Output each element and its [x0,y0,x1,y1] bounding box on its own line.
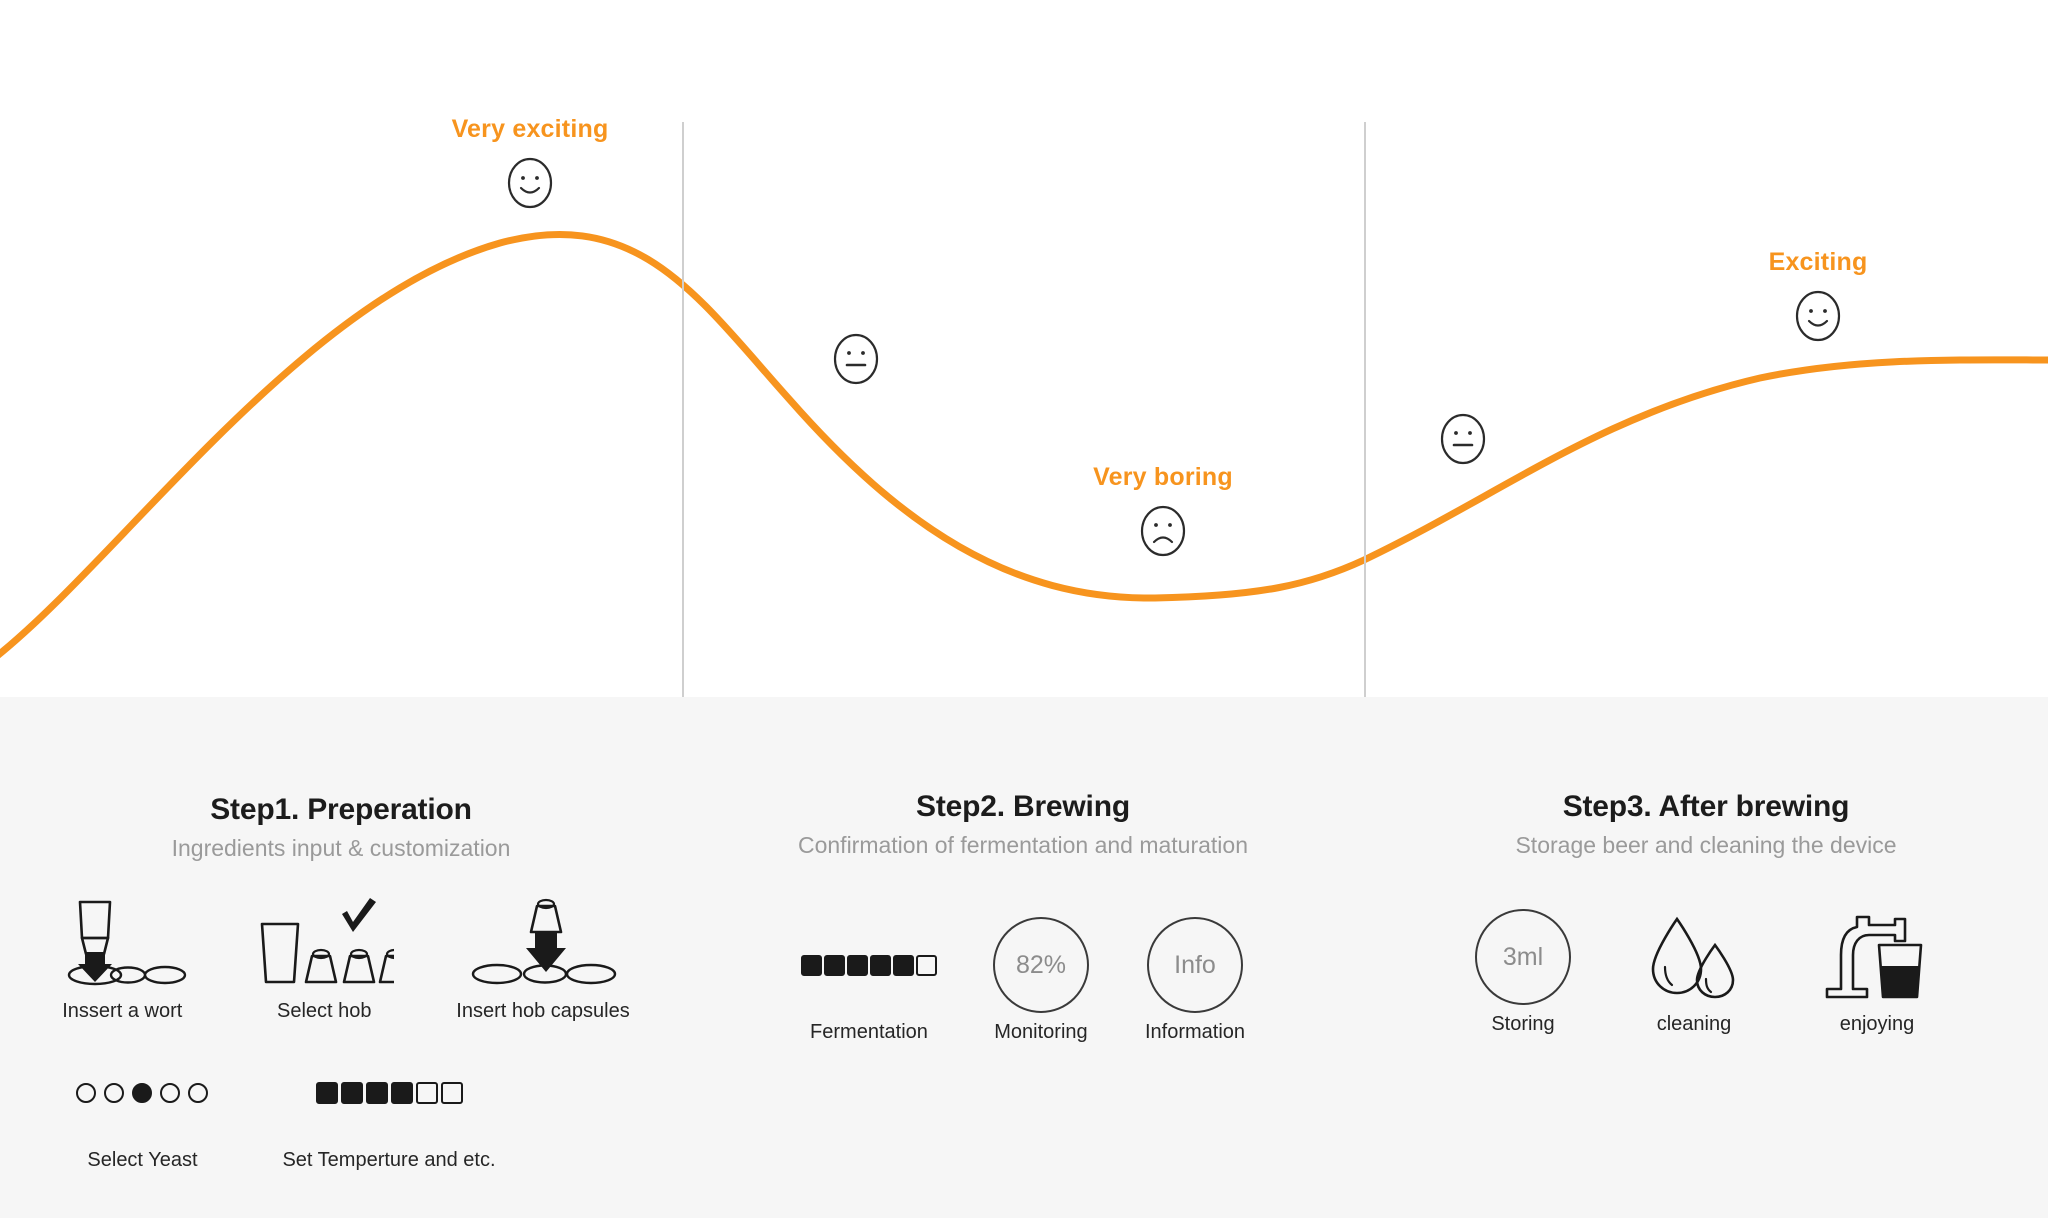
square-empty [441,1082,463,1104]
volume-value: 3ml [1503,943,1543,972]
emotion-curve-area [0,0,2048,697]
square-filled [391,1082,413,1104]
neutral-face-icon [1438,412,1488,471]
sad-face-icon [1138,504,1188,563]
icon-caption: enjoying [1817,1013,1937,1036]
step3-item-enjoying[interactable]: enjoying [1817,911,1937,1036]
radio-dots-icon [76,1047,208,1139]
step-title: Step2. Brewing [682,790,1364,824]
step-column-brewing: Step2. Brewing Confirmation of fermentat… [682,697,1364,1218]
step-column-after-brewing: Step3. After brewing Storage beer and cl… [1364,697,2048,1218]
step1-icon-row-2: Select Yeast Set Temperture and etc. [0,1047,682,1172]
emotion-curve-svg [0,0,2048,697]
tap-and-glass-icon [1817,911,1937,1003]
emotion-label: Exciting [1668,248,1968,277]
level-squares-icon [282,1047,495,1139]
volume-ring-icon: 3ml [1475,909,1571,1005]
neutral-face-icon [831,332,881,391]
journey-map-page: Very exciting Very boring [0,0,2048,1218]
square-filled [870,955,891,976]
insert-capsule-arrow-icon [456,898,629,990]
step1-item-insert-capsules[interactable]: Insert hob capsules [456,898,629,1023]
icon-caption: Set Temperture and etc. [282,1149,495,1172]
info-value: Info [1174,951,1216,980]
square-filled [366,1082,388,1104]
step3-item-cleaning[interactable]: cleaning [1639,911,1749,1036]
dot [188,1083,208,1103]
icon-caption: Select hob [254,1000,394,1023]
emotion-annotation-exciting: Exciting [1668,248,1968,348]
emotion-label: Very boring [1013,463,1313,492]
step3-icon-row: 3ml Storing cleaning [1364,911,2048,1036]
step-column-preparation: Step1. Preperation Ingredients input & c… [0,697,682,1218]
progress-squares-icon [801,919,937,1011]
square-filled [341,1082,363,1104]
step-subtitle: Ingredients input & customization [0,835,682,862]
icon-caption: Fermentation [801,1021,937,1044]
step1-item-insert-wort[interactable]: Inssert a wort [52,898,192,1023]
dot [160,1083,180,1103]
happy-face-icon [505,156,555,215]
step2-item-fermentation[interactable]: Fermentation [801,919,937,1044]
emotion-annotation-very-exciting: Very exciting [380,115,680,215]
step1-item-select-yeast[interactable]: Select Yeast [76,1047,208,1172]
step1-icon-row-1: Inssert a wort [0,898,682,1023]
icon-caption: Monitoring [993,1021,1089,1044]
step-title: Step1. Preperation [0,793,682,827]
emotion-label: Very exciting [380,115,680,144]
step2-item-monitoring[interactable]: 82% Monitoring [993,919,1089,1044]
icon-caption: cleaning [1639,1013,1749,1036]
icon-caption: Information [1145,1021,1245,1044]
step3-item-storing[interactable]: 3ml Storing [1475,911,1571,1036]
percent-value: 82% [1016,951,1066,980]
icon-caption: Inssert a wort [52,1000,192,1023]
step-title: Step3. After brewing [1364,790,2048,824]
emotion-annotation-neutral-brewing [706,320,1006,391]
percent-ring-icon: 82% [993,917,1089,1013]
emotion-annotation-very-boring: Very boring [1013,463,1313,563]
square-filled [824,955,845,976]
step-subtitle: Confirmation of fermentation and maturat… [682,832,1364,859]
icon-caption: Select Yeast [76,1149,208,1172]
square-filled [801,955,822,976]
dot [76,1083,96,1103]
icon-caption: Insert hob capsules [456,1000,629,1023]
emotion-annotation-neutral-after [1313,400,1613,471]
square-empty [916,955,937,976]
dot [104,1083,124,1103]
bottle-pour-into-slot-icon [52,898,192,990]
happy-face-icon [1793,289,1843,348]
square-empty [416,1082,438,1104]
step1-item-set-temperature[interactable]: Set Temperture and etc. [282,1047,495,1172]
dot-selected [132,1083,152,1103]
icon-caption: Storing [1475,1013,1571,1036]
info-ring-icon: Info [1147,917,1243,1013]
water-drops-icon [1639,911,1749,1003]
step-subtitle: Storage beer and cleaning the device [1364,832,2048,859]
square-filled [316,1082,338,1104]
step1-item-select-hob[interactable]: Select hob [254,898,394,1023]
step2-item-information[interactable]: Info Information [1145,919,1245,1044]
select-hob-check-icon [254,898,394,990]
step2-icon-row: Fermentation 82% Monitoring Info [682,919,1364,1044]
square-filled [893,955,914,976]
steps-panel: Step1. Preperation Ingredients input & c… [0,697,2048,1218]
square-filled [847,955,868,976]
